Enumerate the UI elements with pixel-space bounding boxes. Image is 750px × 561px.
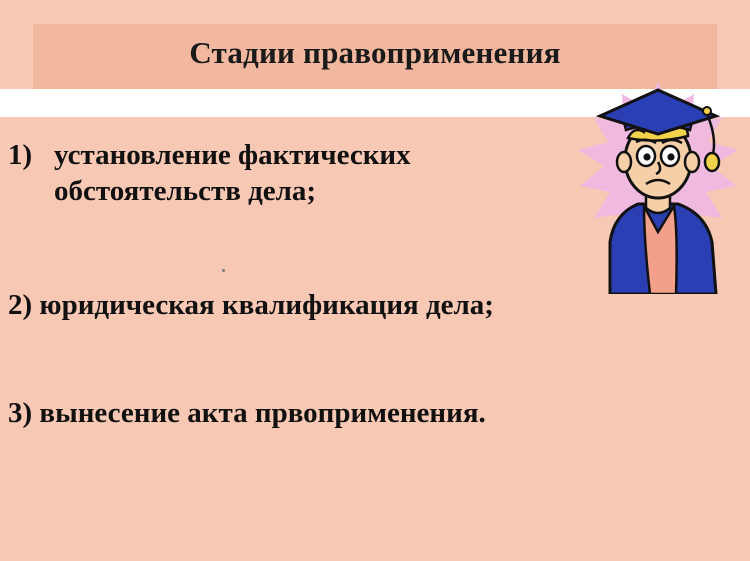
list-item-number: 2): [8, 289, 32, 321]
list-item-text-line1: установление фактических: [54, 139, 411, 171]
list-item-number: 1): [8, 137, 54, 173]
page-title: Стадии правоприменения: [33, 35, 717, 71]
stray-dot-mark: [222, 269, 225, 272]
list-item-text-line1: вынесение акта првоприменения.: [39, 397, 485, 429]
list-item: 3) вынесение акта првоприменения.: [8, 395, 708, 431]
slide-canvas: Стадии правоприменения 1)установление фа…: [0, 0, 750, 561]
list-item-text-line1: юридическая квалификация дела;: [39, 289, 494, 321]
list-item-text-line2: обстоятельств дела;: [54, 173, 568, 209]
list-item-number: 3): [8, 397, 32, 429]
graduate-cartoon-icon: [566, 82, 750, 294]
list-item: 1)установление фактических обстоятельств…: [8, 137, 568, 209]
